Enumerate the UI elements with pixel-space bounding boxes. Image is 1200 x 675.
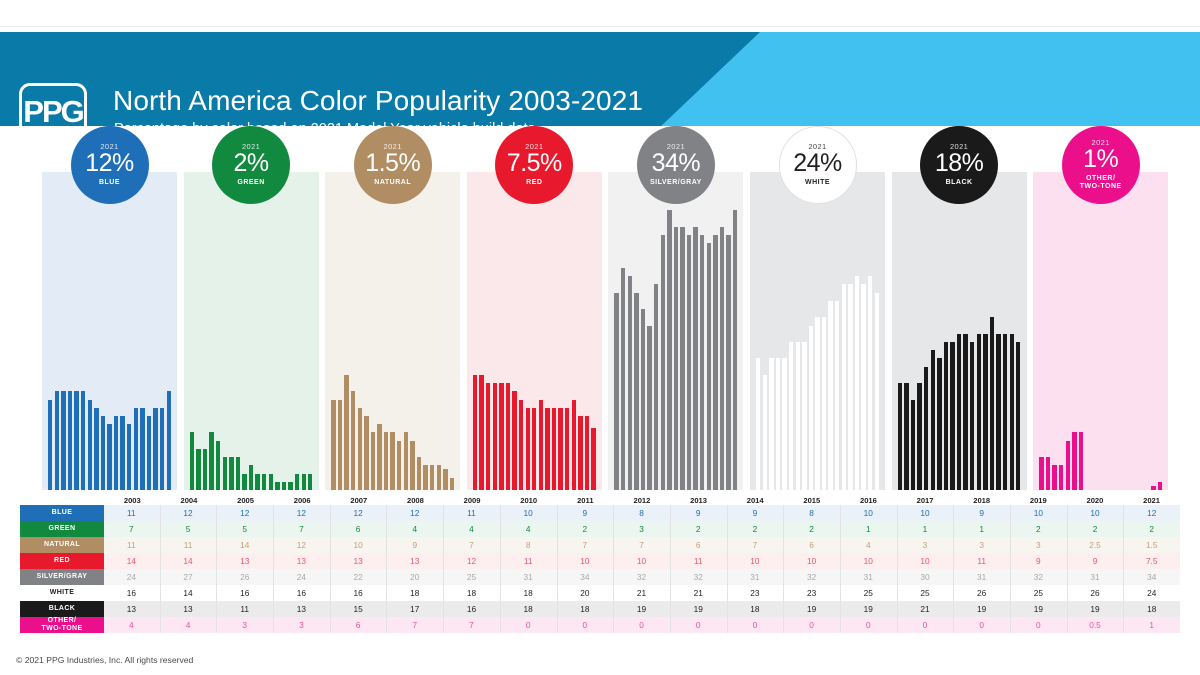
bar — [236, 457, 240, 490]
bar — [1079, 432, 1083, 490]
table-cell: 0 — [953, 617, 1010, 633]
table-cell: 0 — [613, 617, 670, 633]
bar — [410, 441, 414, 490]
bar — [815, 317, 819, 490]
badge-year: 2021 — [1092, 139, 1110, 147]
bar — [479, 375, 483, 490]
bar — [680, 227, 684, 490]
bar — [242, 474, 246, 490]
table-cell: 1.5 — [1123, 537, 1180, 553]
bar — [61, 391, 65, 490]
table-cell: 30 — [897, 569, 954, 585]
table-cell: 14 — [216, 537, 273, 553]
table-cell: 7 — [557, 537, 614, 553]
bar — [726, 235, 730, 490]
color-panel-green — [184, 172, 319, 490]
table-cell: 18 — [500, 585, 557, 601]
table-cell: 0 — [557, 617, 614, 633]
bar — [614, 293, 618, 490]
badge-percent: 34% — [652, 151, 701, 176]
table-cell: 25 — [840, 585, 897, 601]
table-cell: 1 — [840, 521, 897, 537]
badge-black: 202118%BLACK — [920, 126, 998, 204]
table-cell: 16 — [443, 601, 500, 617]
table-cell: 4 — [160, 617, 217, 633]
bar — [937, 358, 941, 490]
year-header-cell: 2004 — [161, 496, 218, 505]
table-cell: 7 — [443, 617, 500, 633]
table-cell: 2 — [557, 521, 614, 537]
badge-percent: 12% — [85, 151, 134, 176]
bar — [904, 383, 908, 490]
bar — [74, 391, 78, 490]
bar — [344, 375, 348, 490]
badge-white: 202124%WHITE — [779, 126, 857, 204]
bar-group — [1033, 172, 1168, 490]
row-label-natural: NATURAL — [20, 537, 104, 553]
table-cell: 23 — [783, 585, 840, 601]
color-panel-other-two-tone — [1033, 172, 1168, 490]
table-cell: 13 — [216, 553, 273, 569]
bar — [107, 424, 111, 490]
bar — [48, 400, 52, 490]
table-cell: 10 — [557, 553, 614, 569]
table-cell: 25 — [1010, 585, 1067, 601]
table-cell: 7.5 — [1123, 553, 1180, 569]
bar — [667, 210, 671, 490]
bar — [288, 482, 292, 490]
bar — [249, 465, 253, 490]
bar — [707, 243, 711, 490]
bar — [450, 478, 454, 490]
bar — [430, 465, 434, 490]
bar — [983, 334, 987, 490]
bar — [789, 342, 793, 490]
year-header-cell: 2019 — [1010, 496, 1067, 505]
table-cell: 22 — [330, 569, 387, 585]
table-cell: 0 — [727, 617, 784, 633]
bar — [713, 235, 717, 490]
table-cell: 31 — [500, 569, 557, 585]
table-cell: 9 — [1067, 553, 1124, 569]
table-cell: 10 — [1067, 505, 1124, 521]
badge-year: 2021 — [808, 143, 826, 151]
color-panel-black — [892, 172, 1027, 490]
table-cell: 3 — [613, 521, 670, 537]
bar — [733, 210, 737, 490]
table-cell: 13 — [160, 601, 217, 617]
bar — [255, 474, 259, 490]
bar-group — [892, 172, 1027, 490]
table-cell: 10 — [897, 505, 954, 521]
table-cell: 13 — [386, 553, 443, 569]
table-cell: 3 — [897, 537, 954, 553]
table-cell: 13 — [104, 601, 160, 617]
table-cell: 11 — [670, 553, 727, 569]
table-cell: 11 — [953, 553, 1010, 569]
table-cell: 20 — [386, 569, 443, 585]
header-banner: PPG North America Color Popularity 2003-… — [0, 32, 1200, 126]
badge-blue: 202112%BLUE — [71, 126, 149, 204]
bar-group — [42, 172, 177, 490]
badge-color-name: BLUE — [99, 179, 120, 187]
bar — [898, 383, 902, 490]
table-cell: 4 — [500, 521, 557, 537]
table-cell: 6 — [330, 617, 387, 633]
table-cell: 6 — [670, 537, 727, 553]
bar — [693, 227, 697, 490]
bar — [262, 474, 266, 490]
table-cell: 7 — [613, 537, 670, 553]
bar — [796, 342, 800, 490]
bar — [931, 350, 935, 490]
table-cell: 9 — [670, 505, 727, 521]
table-cell: 0.5 — [1067, 617, 1124, 633]
table-cell: 7 — [727, 537, 784, 553]
table-cell: 32 — [613, 569, 670, 585]
table-cell: 15 — [330, 601, 387, 617]
bar — [526, 408, 530, 490]
bar — [101, 416, 105, 490]
bar — [358, 408, 362, 490]
badge-color-name: RED — [526, 179, 542, 187]
table-cell: 8 — [783, 505, 840, 521]
table-cell: 3 — [1010, 537, 1067, 553]
table-cell: 12 — [216, 505, 273, 521]
bar — [275, 482, 279, 490]
table-row: WHITE16141616161818182021212323252526252… — [20, 585, 1180, 601]
ppg-logo-icon: PPG — [19, 83, 87, 126]
table-cell: 34 — [557, 569, 614, 585]
table-cell: 25 — [897, 585, 954, 601]
badge-year: 2021 — [100, 143, 118, 151]
table-cell: 10 — [500, 505, 557, 521]
bar — [875, 293, 879, 490]
table-cell: 3 — [953, 537, 1010, 553]
bar-group — [184, 172, 319, 490]
table-cell: 10 — [840, 505, 897, 521]
bar — [417, 457, 421, 490]
table-cell: 12 — [273, 537, 330, 553]
bar — [443, 469, 447, 490]
table-cell: 25 — [443, 569, 500, 585]
table-cell: 2.5 — [1067, 537, 1124, 553]
table-cell: 19 — [1010, 601, 1067, 617]
table-cell: 12 — [273, 505, 330, 521]
table-cell: 11 — [443, 505, 500, 521]
bar — [134, 408, 138, 490]
table-cell: 9 — [727, 505, 784, 521]
badge-percent: 2% — [234, 151, 269, 176]
table-row: OTHER/TWO-TONE443367700000000000.51 — [20, 617, 1180, 633]
bar — [1039, 457, 1043, 490]
bar-group — [750, 172, 885, 490]
badge-natural: 20211.5%NATURAL — [354, 126, 432, 204]
badge-year: 2021 — [384, 143, 402, 151]
bar — [1003, 334, 1007, 490]
table-cell: 23 — [727, 585, 784, 601]
badge-green: 20212%GREEN — [212, 126, 290, 204]
table-cell: 13 — [273, 601, 330, 617]
bar — [822, 317, 826, 490]
table-cell: 9 — [953, 505, 1010, 521]
table-cell: 10 — [897, 553, 954, 569]
row-label-blue: BLUE — [20, 505, 104, 521]
bar-group — [325, 172, 460, 490]
table-cell: 2 — [783, 521, 840, 537]
table-cell: 0 — [840, 617, 897, 633]
table-row: BLACK13131113151716181819191819192119191… — [20, 601, 1180, 617]
bar — [81, 391, 85, 490]
bar — [269, 474, 273, 490]
bar — [621, 268, 625, 490]
bar — [687, 235, 691, 490]
table-cell: 17 — [386, 601, 443, 617]
table-cell: 31 — [840, 569, 897, 585]
bar — [585, 416, 589, 490]
table-cell: 18 — [557, 601, 614, 617]
table-cell: 10 — [613, 553, 670, 569]
badge-silver-gray: 202134%SILVER/GRAY — [637, 126, 715, 204]
table-cell: 6 — [330, 521, 387, 537]
table-cell: 6 — [783, 537, 840, 553]
table-cell: 19 — [840, 601, 897, 617]
bar — [499, 383, 503, 490]
table-cell: 21 — [613, 585, 670, 601]
infographic-canvas: PPG North America Color Popularity 2003-… — [0, 0, 1200, 675]
bar — [223, 457, 227, 490]
table-cell: 19 — [613, 601, 670, 617]
bar — [996, 334, 1000, 490]
bar — [216, 441, 220, 490]
table-cell: 31 — [727, 569, 784, 585]
bar — [1016, 342, 1020, 490]
bar — [1072, 432, 1076, 490]
table-cell: 12 — [1123, 505, 1180, 521]
bar — [282, 482, 286, 490]
table-cell: 21 — [670, 585, 727, 601]
table-cell: 16 — [216, 585, 273, 601]
bar — [331, 400, 335, 490]
bar — [802, 342, 806, 490]
table-cell: 4 — [840, 537, 897, 553]
table-cell: 12 — [443, 553, 500, 569]
table-cell: 16 — [330, 585, 387, 601]
table-cell: 31 — [953, 569, 1010, 585]
bar — [1066, 441, 1070, 490]
table-cell: 32 — [1010, 569, 1067, 585]
bar — [756, 358, 760, 490]
table-cell: 24 — [1123, 585, 1180, 601]
bar — [397, 441, 401, 490]
year-header-cell: 2013 — [670, 496, 727, 505]
bar — [519, 400, 523, 490]
table-cell: 3 — [216, 617, 273, 633]
table-year-header: 2003200420052006200720082009201020112012… — [20, 490, 1180, 505]
year-header-cell: 2012 — [614, 496, 671, 505]
badge-red: 20217.5%RED — [495, 126, 573, 204]
bar — [486, 383, 490, 490]
badge-percent: 18% — [935, 151, 984, 176]
bar — [68, 391, 72, 490]
bar — [720, 227, 724, 490]
table-cell: 10 — [330, 537, 387, 553]
bar — [377, 424, 381, 490]
badge-other-two-tone: 20211%OTHER/TWO-TONE — [1062, 126, 1140, 204]
bar — [147, 416, 151, 490]
bar — [654, 284, 658, 490]
bar — [338, 400, 342, 490]
bar — [782, 358, 786, 490]
year-header-cell: 2006 — [274, 496, 331, 505]
bar — [167, 391, 171, 490]
bar — [196, 449, 200, 490]
table-cell: 24 — [273, 569, 330, 585]
table-cell: 7 — [386, 617, 443, 633]
table-cell: 18 — [727, 601, 784, 617]
bar — [493, 383, 497, 490]
bar — [911, 400, 915, 490]
chart-panels: 202112%BLUE20212%GREEN20211.5%NATURAL202… — [0, 126, 1200, 490]
table-cell: 2 — [727, 521, 784, 537]
table-cell: 21 — [897, 601, 954, 617]
table-cell: 1 — [897, 521, 954, 537]
table-cell: 32 — [783, 569, 840, 585]
bar — [558, 408, 562, 490]
table-cell: 11 — [104, 505, 160, 521]
bar — [977, 334, 981, 490]
bar — [120, 416, 124, 490]
table-cell: 14 — [104, 553, 160, 569]
data-table: 2003200420052006200720082009201020112012… — [20, 490, 1180, 633]
bar — [160, 408, 164, 490]
year-header-cell: 2010 — [500, 496, 557, 505]
bar — [628, 276, 632, 490]
table-cell: 9 — [1010, 553, 1067, 569]
badge-percent: 1% — [1083, 147, 1118, 172]
bar — [532, 408, 536, 490]
bar — [868, 276, 872, 490]
badge-color-name: WHITE — [805, 179, 830, 187]
bar — [552, 408, 556, 490]
bar — [423, 465, 427, 490]
bar — [861, 284, 865, 490]
table-cell: 2 — [670, 521, 727, 537]
row-label-black: BLACK — [20, 601, 104, 617]
bar — [809, 326, 813, 490]
table-cell: 14 — [160, 553, 217, 569]
table-cell: 7 — [273, 521, 330, 537]
table-cell: 12 — [330, 505, 387, 521]
table-cell: 0 — [500, 617, 557, 633]
bar — [371, 432, 375, 490]
bar — [957, 334, 961, 490]
table-cell: 2 — [1067, 521, 1124, 537]
table-cell: 10 — [840, 553, 897, 569]
table-cell: 19 — [783, 601, 840, 617]
color-panel-blue — [42, 172, 177, 490]
bar — [384, 432, 388, 490]
bar — [924, 367, 928, 490]
bar — [917, 383, 921, 490]
badge-year: 2021 — [242, 143, 260, 151]
bar — [308, 474, 312, 490]
bar — [835, 301, 839, 490]
color-panel-red — [467, 172, 602, 490]
table-cell: 19 — [1067, 601, 1124, 617]
bar — [674, 227, 678, 490]
year-header-cell: 2007 — [331, 496, 388, 505]
bar — [769, 358, 773, 490]
bar — [828, 301, 832, 490]
bar — [506, 383, 510, 490]
bar-group — [467, 172, 602, 490]
bar — [229, 457, 233, 490]
year-header-cell: 2018 — [953, 496, 1010, 505]
color-panel-silver-gray — [608, 172, 743, 490]
table-cell: 26 — [1067, 585, 1124, 601]
bar — [641, 309, 645, 490]
badge-year: 2021 — [525, 143, 543, 151]
table-cell: 10 — [1010, 505, 1067, 521]
table-cell: 1 — [1123, 617, 1180, 633]
badge-color-name: NATURAL — [374, 179, 411, 187]
badge-percent: 7.5% — [507, 151, 562, 176]
bar — [55, 391, 59, 490]
bar — [572, 400, 576, 490]
table-cell: 20 — [557, 585, 614, 601]
year-header-cell: 2014 — [727, 496, 784, 505]
table-cell: 14 — [160, 585, 217, 601]
table-row: SILVER/GRAY24272624222025313432323132313… — [20, 569, 1180, 585]
badge-color-name: BLACK — [946, 179, 973, 187]
table-cell: 26 — [216, 569, 273, 585]
bar — [190, 432, 194, 490]
bar — [140, 408, 144, 490]
bar — [295, 474, 299, 490]
table-cell: 10 — [783, 553, 840, 569]
table-cell: 4 — [443, 521, 500, 537]
bar — [565, 408, 569, 490]
bar — [591, 428, 595, 490]
bar — [578, 416, 582, 490]
table-cell: 8 — [613, 505, 670, 521]
table-cell: 4 — [386, 521, 443, 537]
table-cell: 1 — [953, 521, 1010, 537]
bar — [545, 408, 549, 490]
table-cell: 13 — [273, 553, 330, 569]
table-cell: 8 — [500, 537, 557, 553]
table-cell: 27 — [160, 569, 217, 585]
bar — [473, 375, 477, 490]
table-cell: 3 — [273, 617, 330, 633]
row-label-silver-gray: SILVER/GRAY — [20, 569, 104, 585]
table-cell: 26 — [953, 585, 1010, 601]
table-cell: 11 — [160, 537, 217, 553]
bar — [127, 424, 131, 490]
table-cell: 9 — [386, 537, 443, 553]
table-cell: 0 — [897, 617, 954, 633]
badge-year: 2021 — [950, 143, 968, 151]
table-cell: 2 — [1010, 521, 1067, 537]
bar — [1059, 465, 1063, 490]
top-divider — [0, 26, 1200, 27]
table-cell: 34 — [1123, 569, 1180, 585]
row-label-white: WHITE — [20, 585, 104, 601]
table-cell: 18 — [500, 601, 557, 617]
year-header-cell: 2008 — [387, 496, 444, 505]
table-cell: 4 — [104, 617, 160, 633]
